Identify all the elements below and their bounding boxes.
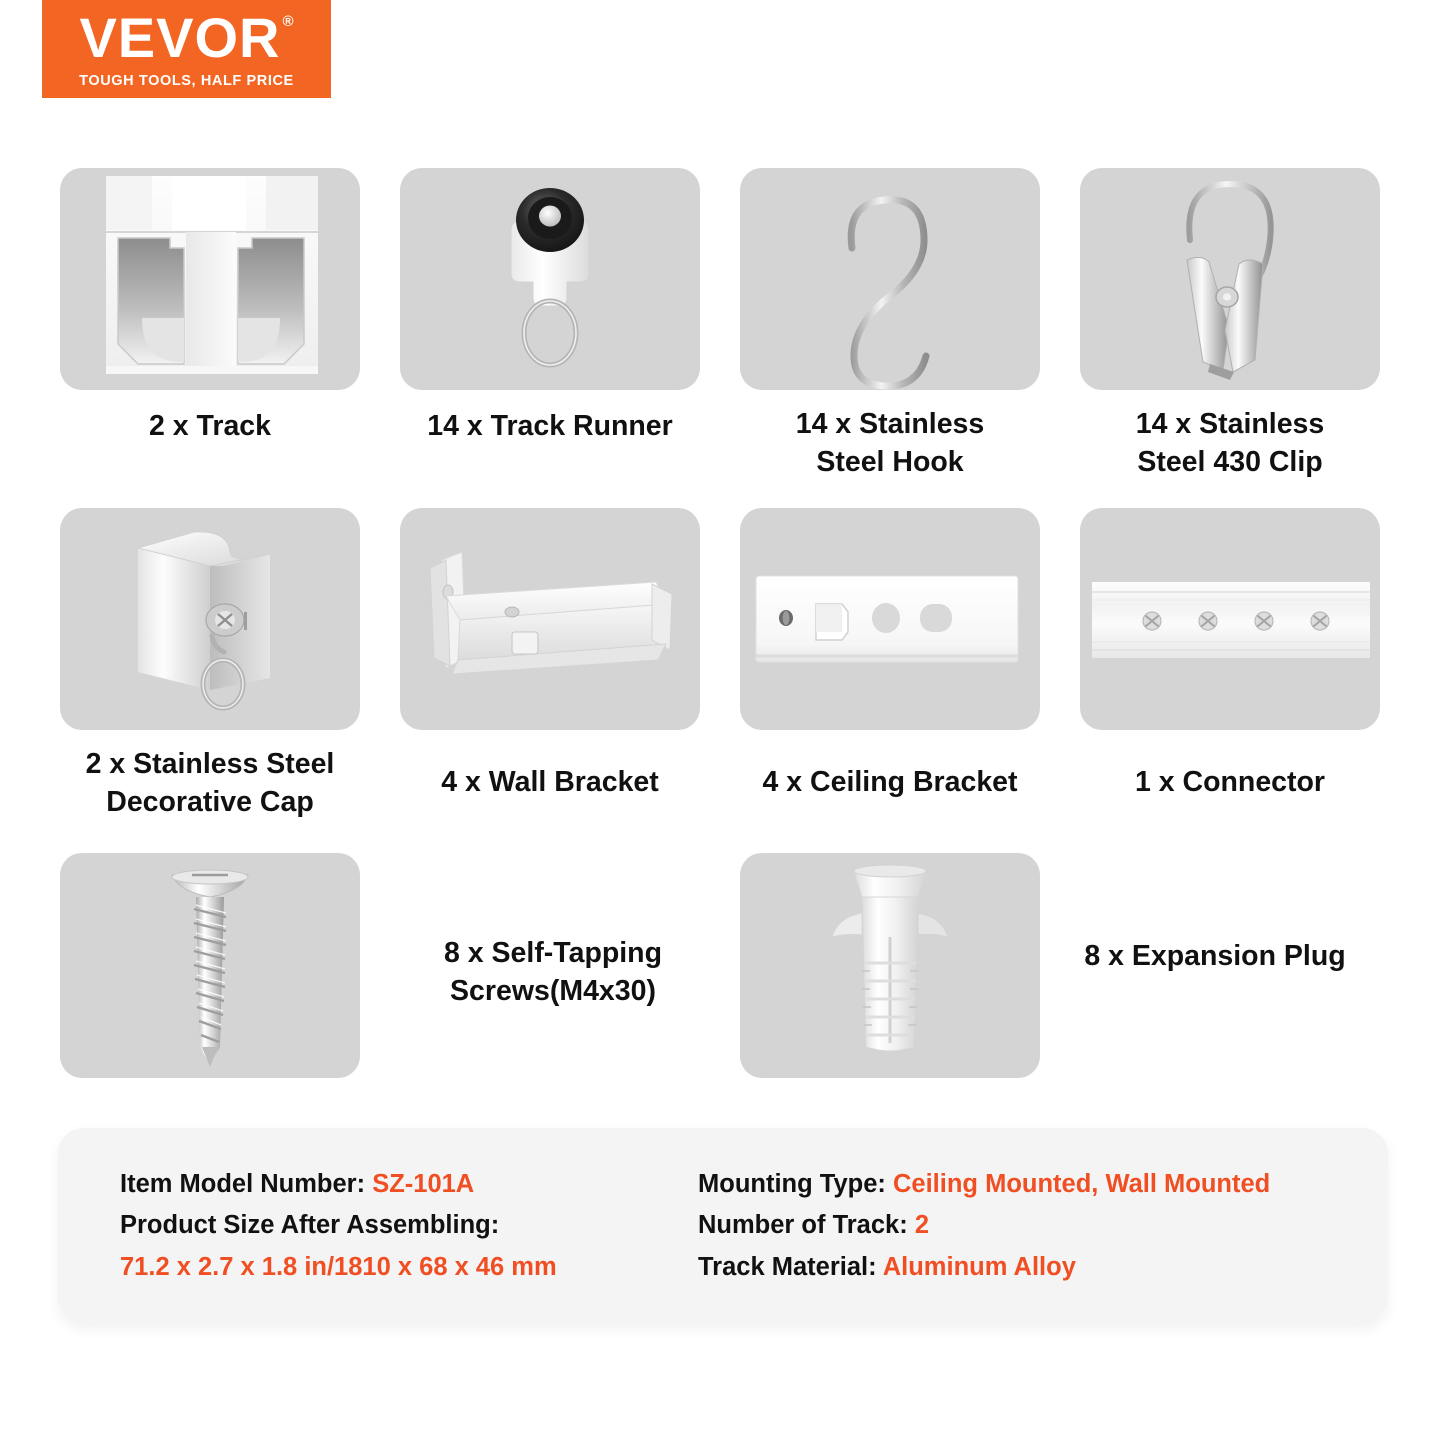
screw-icon bbox=[60, 853, 360, 1078]
part-tile-wall-bracket: 4 x Wall Bracket bbox=[400, 508, 700, 730]
part-caption: 4 x Wall Bracket bbox=[370, 764, 730, 802]
caption-line-1: 14 x Stainless bbox=[1050, 406, 1410, 444]
part-tile-connector: 1 x Connector bbox=[1080, 508, 1380, 730]
spec-value: Aluminum Alloy bbox=[883, 1253, 1076, 1281]
spec-label: Product Size After Assembling: bbox=[120, 1211, 499, 1239]
spring-clip-icon bbox=[1080, 168, 1380, 390]
caption-line-1: 8 x Expansion Plug bbox=[1050, 938, 1380, 976]
decorative-cap-icon bbox=[60, 508, 360, 730]
wall-bracket-icon bbox=[400, 508, 700, 730]
spec-value: 2 bbox=[915, 1211, 929, 1239]
ceiling-bracket-icon bbox=[740, 508, 1040, 730]
spec-row-model: Item Model Number: SZ-101A bbox=[120, 1164, 557, 1205]
part-caption-expansion-plug: 8 x Expansion Plug bbox=[1050, 938, 1380, 998]
spec-row-size-label: Product Size After Assembling: bbox=[120, 1205, 557, 1246]
spec-row-size-value: 71.2 x 2.7 x 1.8 in/1810 x 68 x 46 mm bbox=[120, 1247, 557, 1288]
spec-column-left: Item Model Number: SZ-101A Product Size … bbox=[120, 1164, 557, 1288]
caption-line-1: 4 x Ceiling Bracket bbox=[710, 764, 1070, 802]
part-tile-expansion-plug bbox=[740, 853, 1040, 1078]
caption-line-1: 14 x Stainless bbox=[710, 406, 1070, 444]
screw-thumbnail bbox=[60, 853, 360, 1078]
part-caption: 2 x Track bbox=[30, 408, 390, 446]
part-caption: 2 x Stainless Steel Decorative Cap bbox=[30, 746, 390, 822]
spec-row-mounting-type: Mounting Type: Ceiling Mounted, Wall Mou… bbox=[698, 1164, 1270, 1205]
part-caption: 14 x Track Runner bbox=[370, 408, 730, 446]
caption-line-2: Steel 430 Clip bbox=[1050, 444, 1410, 482]
spec-value: Ceiling Mounted, Wall Mounted bbox=[893, 1170, 1270, 1198]
parts-grid: 2 x Track bbox=[0, 0, 1445, 1110]
caption-line-1: 2 x Track bbox=[30, 408, 390, 446]
steel-clip-thumbnail bbox=[1080, 168, 1380, 390]
part-caption: 1 x Connector bbox=[1050, 764, 1410, 802]
caption-line-1: 8 x Self-Tapping bbox=[378, 935, 728, 973]
part-caption: 14 x Stainless Steel 430 Clip bbox=[1050, 406, 1410, 482]
connector-icon bbox=[1080, 508, 1380, 730]
part-caption: 4 x Ceiling Bracket bbox=[710, 764, 1070, 802]
part-caption: 14 x Stainless Steel Hook bbox=[710, 406, 1070, 482]
part-tile-ceiling-bracket: 4 x Ceiling Bracket bbox=[740, 508, 1040, 730]
caption-line-1: 1 x Connector bbox=[1050, 764, 1410, 802]
caption-line-2: Screws(M4x30) bbox=[378, 973, 728, 1011]
spec-label: Mounting Type: bbox=[698, 1170, 893, 1198]
spec-row-track-material: Track Material: Aluminum Alloy bbox=[698, 1247, 1270, 1288]
spec-value: 71.2 x 2.7 x 1.8 in/1810 x 68 x 46 mm bbox=[120, 1253, 557, 1281]
part-caption: 8 x Self-Tapping Screws(M4x30) bbox=[378, 935, 728, 1011]
caption-line-1: 14 x Track Runner bbox=[370, 408, 730, 446]
spec-column-right: Mounting Type: Ceiling Mounted, Wall Mou… bbox=[698, 1164, 1270, 1288]
part-caption-self-tapping-screw: 8 x Self-Tapping Screws(M4x30) bbox=[378, 935, 728, 1025]
caption-line-2: Steel Hook bbox=[710, 444, 1070, 482]
s-hook-icon bbox=[740, 168, 1040, 390]
track-runner-icon bbox=[400, 168, 700, 390]
spec-label: Number of Track: bbox=[698, 1211, 915, 1239]
part-tile-steel-hook: 14 x Stainless Steel Hook bbox=[740, 168, 1040, 390]
spec-value: SZ-101A bbox=[372, 1170, 474, 1198]
part-tile-decorative-cap: 2 x Stainless Steel Decorative Cap bbox=[60, 508, 360, 730]
track-thumbnail bbox=[60, 168, 360, 390]
connector-thumbnail bbox=[1080, 508, 1380, 730]
spec-label: Track Material: bbox=[698, 1253, 883, 1281]
caption-line-2: Decorative Cap bbox=[30, 784, 390, 822]
part-caption: 8 x Expansion Plug bbox=[1050, 938, 1380, 976]
caption-line-1: 2 x Stainless Steel bbox=[30, 746, 390, 784]
steel-hook-thumbnail bbox=[740, 168, 1040, 390]
caption-line-1: 4 x Wall Bracket bbox=[370, 764, 730, 802]
decorative-cap-thumbnail bbox=[60, 508, 360, 730]
part-tile-steel-clip: 14 x Stainless Steel 430 Clip bbox=[1080, 168, 1380, 390]
spec-row-number-of-track: Number of Track: 2 bbox=[698, 1205, 1270, 1246]
specifications-panel: Item Model Number: SZ-101A Product Size … bbox=[58, 1128, 1388, 1323]
part-tile-track-runner: 14 x Track Runner bbox=[400, 168, 700, 390]
part-tile-track: 2 x Track bbox=[60, 168, 360, 390]
track-profile-icon bbox=[60, 168, 360, 390]
wall-anchor-icon bbox=[740, 853, 1040, 1078]
ceiling-bracket-thumbnail bbox=[740, 508, 1040, 730]
track-runner-thumbnail bbox=[400, 168, 700, 390]
expansion-plug-thumbnail bbox=[740, 853, 1040, 1078]
part-tile-self-tapping-screw bbox=[60, 853, 360, 1078]
wall-bracket-thumbnail bbox=[400, 508, 700, 730]
spec-label: Item Model Number: bbox=[120, 1170, 372, 1198]
